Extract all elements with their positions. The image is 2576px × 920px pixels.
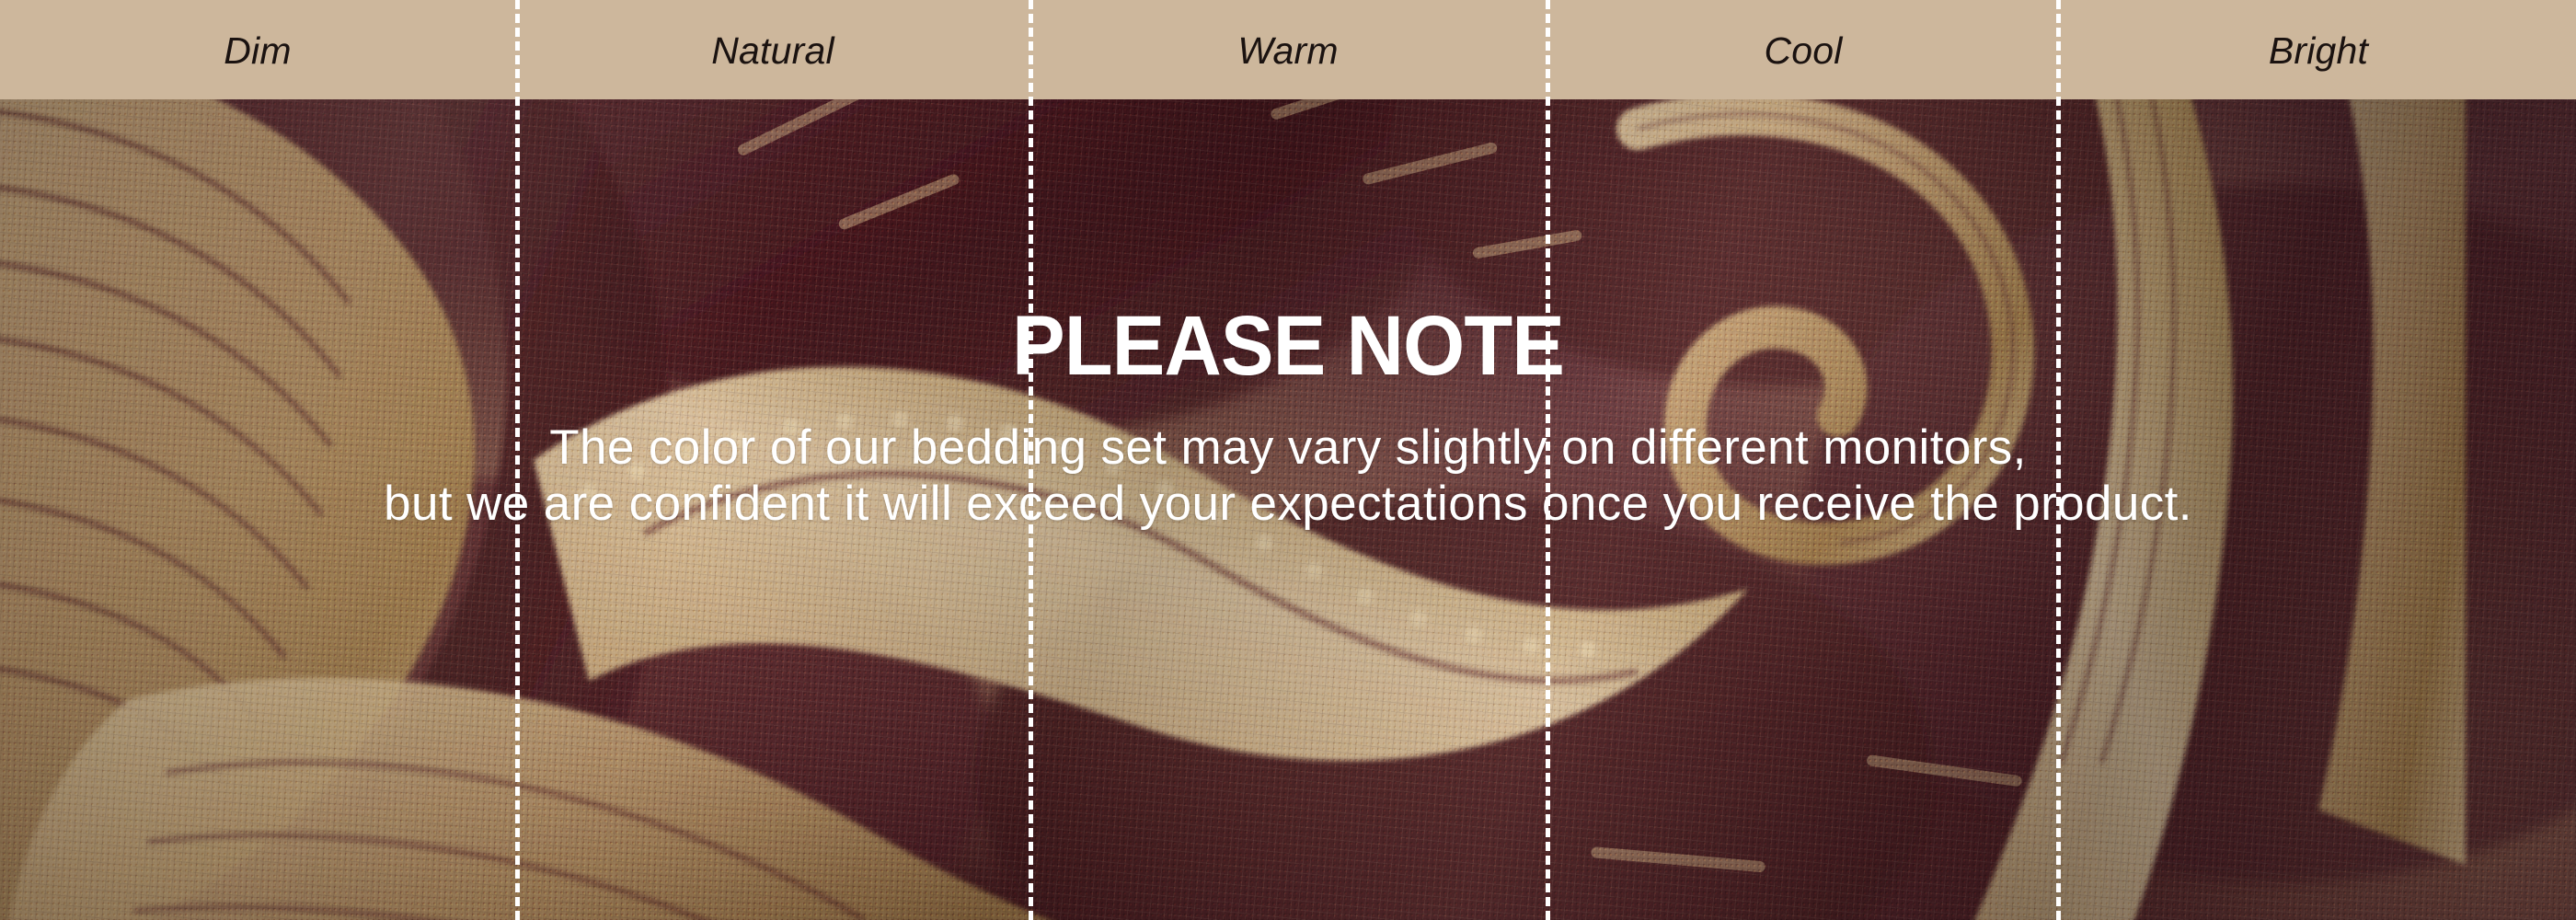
panel-divider-2 bbox=[1029, 0, 1033, 920]
lighting-label-bright: Bright bbox=[2061, 0, 2576, 99]
lighting-label-natural: Natural bbox=[515, 0, 1030, 99]
lighting-label-row: Dim Natural Warm Cool Bright bbox=[0, 0, 2576, 99]
please-note-line-1: The color of our bedding set may vary sl… bbox=[0, 420, 2576, 476]
lighting-label-dim: Dim bbox=[0, 0, 515, 99]
lighting-label-warm: Warm bbox=[1030, 0, 1546, 99]
panel-divider-1 bbox=[515, 0, 520, 920]
please-note-line-2: but we are confident it will exceed your… bbox=[0, 476, 2576, 532]
color-variation-banner: Dim Natural Warm Cool Bright PLEASE NOTE… bbox=[0, 0, 2576, 920]
please-note-title: PLEASE NOTE bbox=[77, 304, 2499, 388]
please-note-block: PLEASE NOTE The color of our bedding set… bbox=[0, 304, 2576, 533]
panel-divider-3 bbox=[1546, 0, 1550, 920]
lighting-condition-header-bar: Dim Natural Warm Cool Bright bbox=[0, 0, 2576, 99]
lighting-label-cool: Cool bbox=[1546, 0, 2061, 99]
panel-divider-4 bbox=[2056, 0, 2061, 920]
